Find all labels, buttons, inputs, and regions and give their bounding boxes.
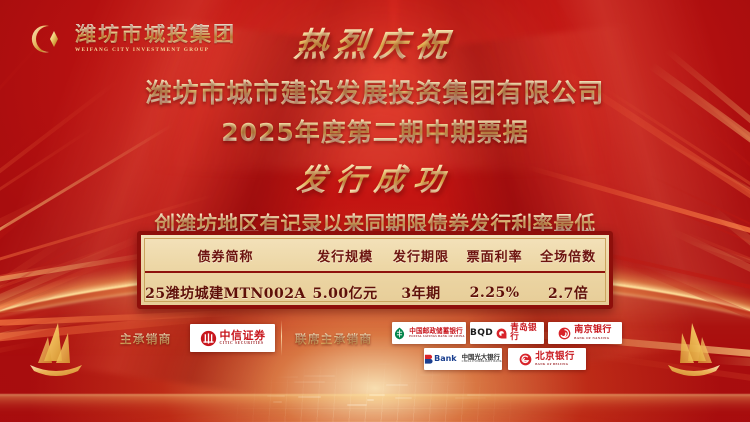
table-header-cell: 发行期限 [384,239,458,272]
beijing-spiral-icon [519,353,532,366]
issue-subtitle: 2025年度第二期中期票据 [0,113,750,149]
table-row: 25潍坊城建MTN002A 5.00亿元 3年期 2.25% 2.7倍 [145,272,605,312]
lead-underwriter-label: 主承销商 [120,331,172,347]
table-header-cell: 发行规模 [306,239,384,272]
beijing-cn-name: 北京银行 [535,352,575,362]
psbc-cn-name: 中国邮政储蓄银行 [409,328,463,335]
success-title: 发行成功 [294,155,456,199]
table-cell-multiple: 2.7倍 [531,272,605,312]
table-header-cell: 全场倍数 [531,239,605,272]
logo-china-everbright-bank: Bank 中国光大银行 CHINA EVERBRIGHT BANK [424,348,502,370]
table-cell-term: 3年期 [384,272,458,312]
company-name-title: 潍坊市城市建设发展投资集团有限公司 [0,73,750,110]
nanjing-cn-name: 南京银行 [574,326,612,335]
citic-cn-name: 中信证券 [220,330,266,341]
bqd-abbr: BQD [470,329,493,338]
bqd-ring-icon [496,328,507,339]
table-header-cell: 票面利率 [458,239,532,272]
congrats-title: 热烈庆祝 [292,18,458,66]
logo-citic-securities: 中信证券 CITIC SECURITIES [190,324,275,352]
table-header-cell: 债券简称 [145,239,306,272]
underwriters-strip: 主承销商 联席主承销商 中信证券 CITIC SECURITIES [0,318,750,380]
logo-bank-of-beijing: 北京银行 BANK OF BEIJING [508,348,586,370]
celebration-poster: 潍坊市城投集团 WEIFANG CITY INVESTMENT GROUP 热烈… [0,0,750,422]
bond-table: 债券简称 发行规模 发行期限 票面利率 全场倍数 25潍坊城建MTN002A 5… [145,239,605,312]
psbc-en-name: POSTAL SAVINGS BANK OF CHINA [409,335,464,338]
table-cell-bond-name: 25潍坊城建MTN002A [145,272,306,312]
bqd-cn-name: 青岛银行 [510,324,544,341]
citic-en-name: CITIC SECURITIES [220,342,264,346]
beijing-en-name: BANK OF BEIJING [535,363,568,366]
joint-underwriter-label: 联席主承销商 [295,331,372,347]
vertical-divider [281,320,282,356]
headline-block: 热烈庆祝 潍坊市城市建设发展投资集团有限公司 2025年度第二期中期票据 发行成… [0,18,750,237]
table-cell-coupon: 2.25% [458,272,532,312]
everbright-bank-icon [424,354,433,364]
everbright-abbr: Bank [434,355,457,363]
citic-circle-icon [200,330,217,347]
nanjing-flower-icon [558,327,571,340]
bond-details-table: 债券简称 发行规模 发行期限 票面利率 全场倍数 25潍坊城建MTN002A 5… [137,231,613,309]
logo-bank-of-nanjing: 南京银行 BANK OF NANJING [548,322,622,344]
table-cell-size: 5.00亿元 [306,272,384,312]
psbc-leaf-icon [393,327,406,340]
logo-postal-savings-bank: 中国邮政储蓄银行 POSTAL SAVINGS BANK OF CHINA [392,322,466,344]
everbright-en-name: CHINA EVERBRIGHT BANK [462,361,502,364]
table-header-row: 债券简称 发行规模 发行期限 票面利率 全场倍数 [145,239,605,272]
nanjing-en-name: BANK OF NANJING [574,337,610,340]
logo-bank-of-qingdao: BQD 青岛银行 [470,322,544,344]
